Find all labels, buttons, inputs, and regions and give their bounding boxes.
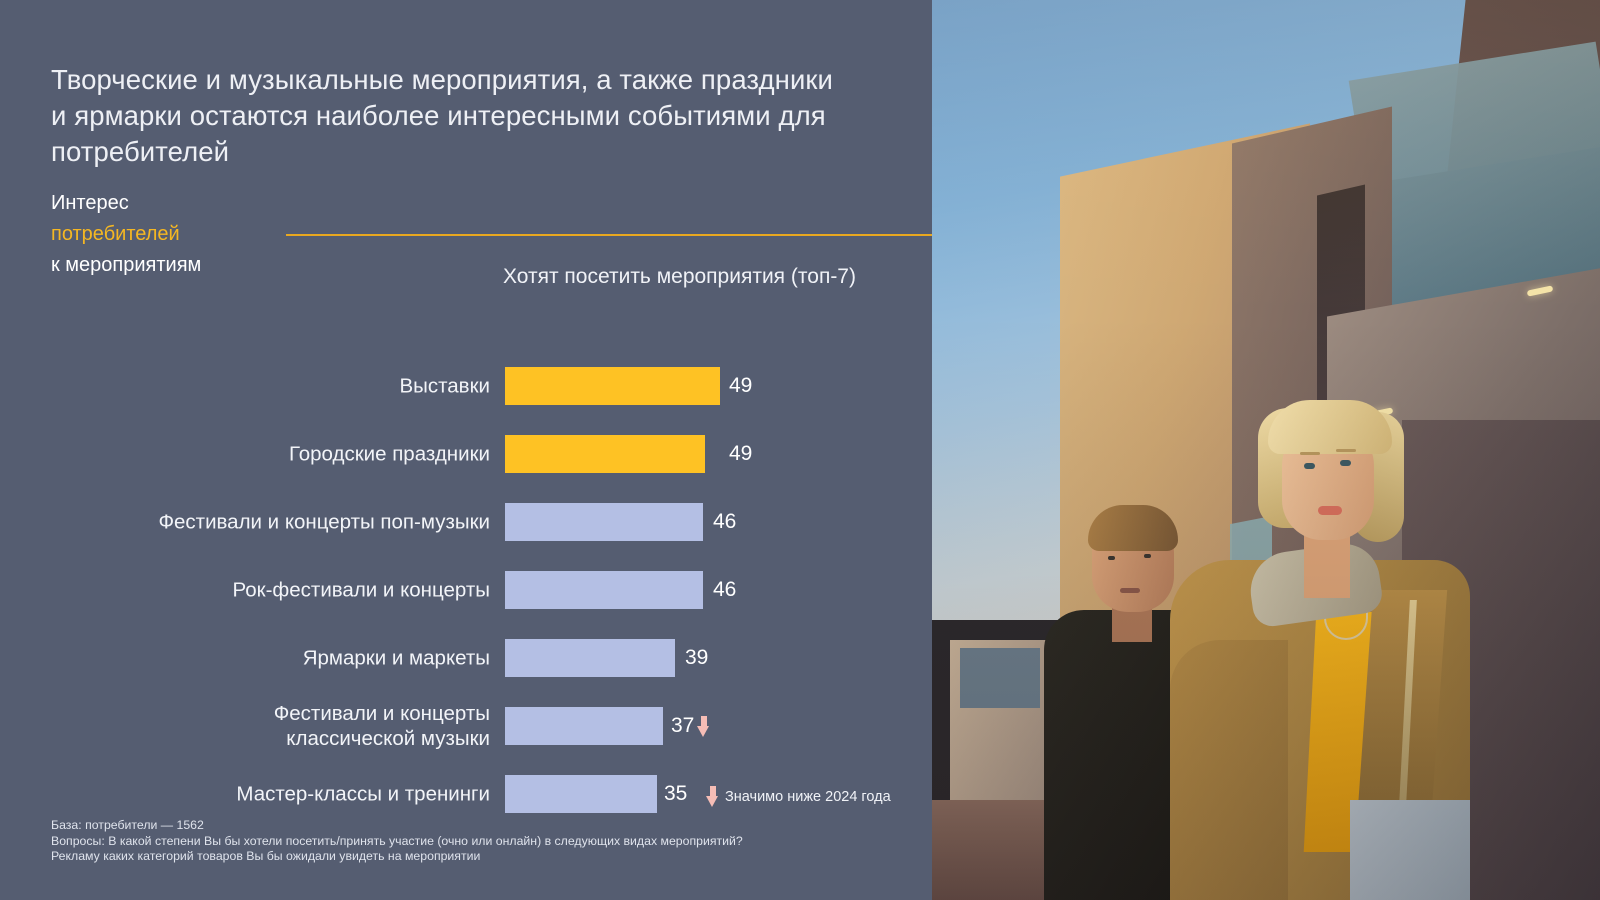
bar-fill [505, 775, 657, 813]
bar-track [505, 707, 663, 745]
bar-track [505, 435, 705, 473]
bar-category-label: Ярмарки и маркеты [50, 646, 490, 671]
bar-fill [505, 503, 703, 541]
bar-chart: Выставки 49 Городские праздники 49 Фести… [0, 352, 932, 828]
bar-row: Городские праздники 49 [0, 420, 932, 488]
bar-fill [505, 367, 720, 405]
bar-track [505, 503, 703, 541]
chart-title: Хотят посетить мероприятия (топ-7) [503, 262, 883, 291]
section-label-accent: потребителей [51, 223, 180, 245]
page-title: Творческие и музыкальные мероприятия, а … [51, 62, 851, 170]
section-label-line-1: Интерес [51, 192, 129, 214]
bar-value: 46 [713, 578, 736, 602]
bar-category-label: Мастер-классы и тренинги [50, 782, 490, 807]
bar-track [505, 571, 703, 609]
bar-value: 35 [664, 782, 687, 806]
footnote-base: База: потребители — 1562 [51, 818, 911, 834]
bar-track [505, 367, 720, 405]
bar-track [505, 639, 675, 677]
bar-category-label: Фестивали и концерты классической музыки [50, 701, 490, 751]
bar-row: Рок-фестивали и концерты 46 [0, 556, 932, 624]
bar-category-label: Рок-фестивали и концерты [50, 578, 490, 603]
section-label: Интерес потребителей к мероприятиям [51, 188, 286, 281]
chart-legend: Значимо ниже 2024 года [703, 786, 891, 807]
bar-value: 49 [729, 442, 752, 466]
bar-fill [505, 435, 705, 473]
bar-category-label: Фестивали и концерты поп-музыки [50, 510, 490, 535]
bar-fill [505, 707, 663, 745]
bar-row: Ярмарки и маркеты 39 [0, 624, 932, 692]
bar-value: 46 [713, 510, 736, 534]
legend-down-arrow-icon [706, 786, 719, 807]
significance-down-arrow-icon [697, 716, 710, 737]
bar-value: 49 [729, 374, 752, 398]
bar-track [505, 775, 657, 813]
photo-color-grade-overlay [932, 0, 1600, 900]
bar-fill [505, 571, 703, 609]
footnote-question-1: Вопросы: В какой степени Вы бы хотели по… [51, 834, 911, 850]
bar-row: Фестивали и концерты поп-музыки 46 [0, 488, 932, 556]
footnote-question-2: Рекламу каких категорий товаров Вы бы ож… [51, 849, 911, 865]
bar-row: Фестивали и концерты классической музыки… [0, 692, 932, 760]
bar-value: 37 [671, 714, 710, 738]
bar-row: Выставки 49 [0, 352, 932, 420]
section-divider [286, 234, 932, 236]
section-label-line-3: к мероприятиям [51, 254, 201, 276]
bar-fill [505, 639, 675, 677]
bar-category-label: Выставки [50, 374, 490, 399]
footnotes: База: потребители — 1562 Вопросы: В како… [51, 818, 911, 865]
legend-label: Значимо ниже 2024 года [725, 789, 891, 805]
slide-content-panel: Творческие и музыкальные мероприятия, а … [0, 0, 932, 900]
bar-value: 39 [685, 646, 708, 670]
hero-photo [932, 0, 1600, 900]
bar-category-label: Городские праздники [50, 442, 490, 467]
